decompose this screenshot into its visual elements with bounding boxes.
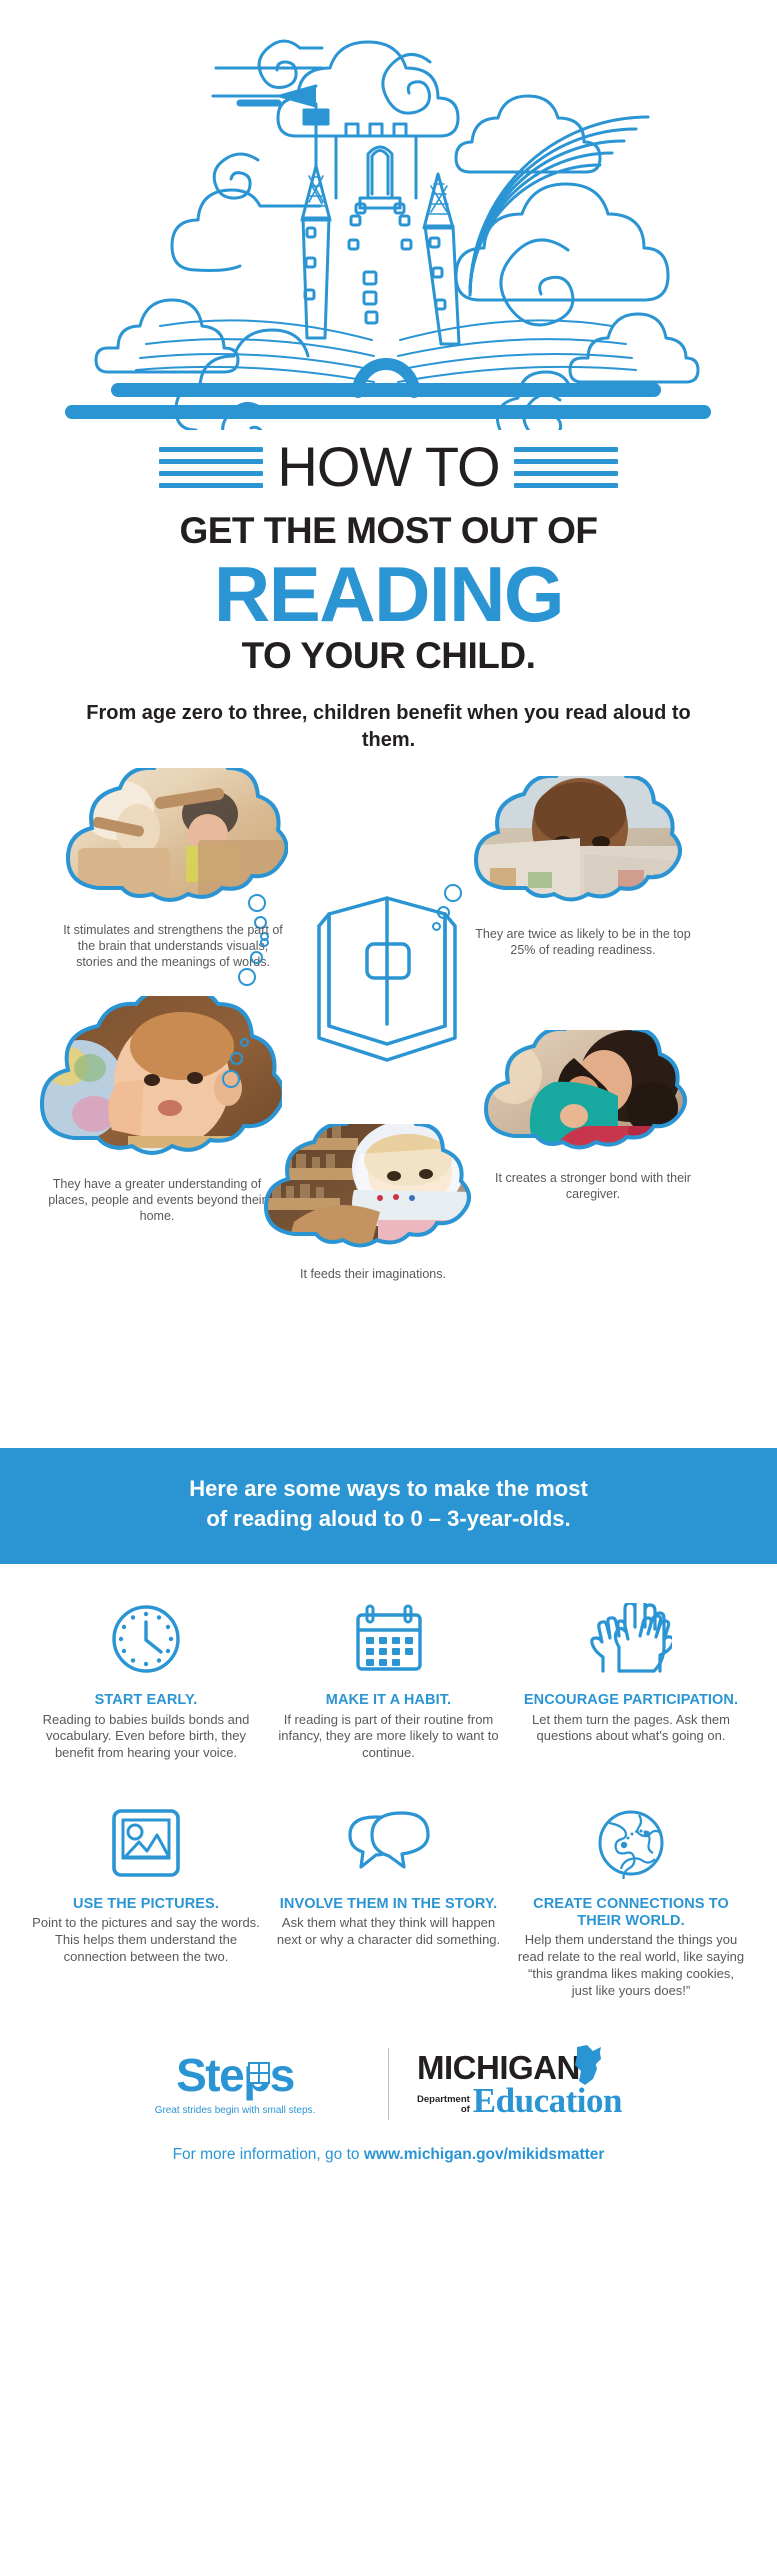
logo-row: Steps Great strides begin with small ste… bbox=[0, 2036, 777, 2132]
tip-start-early: START EARLY. Reading to babies builds bo… bbox=[28, 1600, 264, 1762]
title-line-reading: READING bbox=[0, 555, 777, 633]
howto-row: HOW TO bbox=[0, 436, 777, 498]
thought-cloud-photo bbox=[478, 1030, 708, 1160]
tip-involve-them-in-the-story: INVOLVE THEM IN THE STORY. Ask them what… bbox=[271, 1804, 507, 1949]
tips-section: START EARLY. Reading to babies builds bo… bbox=[0, 1564, 777, 2018]
thought-dots bbox=[238, 938, 269, 986]
tip-title: CREATE CONNECTIONS TO THEIR WORLD. bbox=[513, 1896, 749, 1930]
mde-department-label: Department of bbox=[417, 2095, 473, 2117]
thought-dots bbox=[222, 1038, 249, 1088]
tip-body: Reading to babies builds bonds and vocab… bbox=[28, 1712, 264, 1763]
logo-divider bbox=[388, 2048, 389, 2120]
banner-line-2: of reading aloud to 0 – 3-year-olds. bbox=[40, 1504, 737, 1534]
footer-note: For more information, go to www.michigan… bbox=[0, 2132, 777, 2176]
tip-title: USE THE PICTURES. bbox=[28, 1896, 264, 1913]
steps-tagline: Great strides begin with small steps. bbox=[110, 2105, 360, 2116]
benefit-bubble-stimulates-brain: It stimulates and strengthens the part o… bbox=[58, 768, 288, 912]
mde-of-word: of bbox=[417, 2105, 470, 2115]
michigan-mitten-icon bbox=[569, 2045, 603, 2085]
title-block: HOW TO GET THE MOST OUT OF READING TO YO… bbox=[0, 430, 777, 754]
benefit-caption: It creates a stronger bond with their ca… bbox=[478, 1170, 708, 1202]
tip-use-the-pictures: USE THE PICTURES. Point to the pictures … bbox=[28, 1804, 264, 1966]
benefit-caption: They are twice as likely to be in the to… bbox=[468, 926, 698, 958]
tip-title: MAKE IT A HABIT. bbox=[271, 1692, 507, 1709]
cta-banner: Here are some ways to make the most of r… bbox=[0, 1448, 777, 1565]
open-book-outline-icon bbox=[305, 892, 475, 1077]
calendar-icon bbox=[271, 1600, 507, 1678]
tip-make-it-a-habit: MAKE IT A HABIT. If reading is part of t… bbox=[271, 1600, 507, 1762]
decorative-lines-right bbox=[514, 447, 618, 488]
steps-wordmark: Steps bbox=[176, 2052, 294, 2098]
thought-cloud-photo bbox=[258, 1124, 488, 1258]
benefits-section: It stimulates and strengthens the part o… bbox=[0, 768, 777, 1448]
tip-body: Let them turn the pages. Ask them questi… bbox=[513, 1712, 749, 1746]
subtitle: From age zero to three, children benefit… bbox=[0, 700, 777, 754]
banner-line-1: Here are some ways to make the most bbox=[40, 1474, 737, 1504]
steps-window-mark bbox=[248, 2062, 270, 2084]
raised-hands-icon bbox=[513, 1600, 749, 1678]
tip-body: Ask them what they think will happen nex… bbox=[271, 1915, 507, 1949]
globe-icon bbox=[513, 1804, 749, 1882]
speech-bubbles-icon bbox=[271, 1804, 507, 1882]
hero-illustration bbox=[0, 0, 777, 430]
tip-body: Point to the pictures and say the words.… bbox=[28, 1915, 264, 1966]
clock-icon bbox=[28, 1600, 264, 1678]
title-line-howto: HOW TO bbox=[277, 439, 499, 495]
steps-logo: Steps Great strides begin with small ste… bbox=[110, 2052, 360, 2116]
title-line-to-your-child: TO YOUR CHILD. bbox=[0, 637, 777, 676]
tip-title: ENCOURAGE PARTICIPATION. bbox=[513, 1692, 749, 1709]
mde-education-word: Education bbox=[473, 2085, 622, 2117]
benefit-caption: They have a greater understanding of pla… bbox=[32, 1176, 282, 1224]
title-line-get-the-most: GET THE MOST OUT OF bbox=[0, 512, 777, 551]
steps-wordmark-text: Steps bbox=[176, 2049, 294, 2101]
michigan-department-of-education-logo: MICHIGAN Department of Education bbox=[417, 2051, 667, 2117]
benefit-caption: It feeds their imaginations. bbox=[258, 1266, 488, 1282]
thought-cloud-photo bbox=[58, 768, 288, 912]
decorative-lines-left bbox=[159, 447, 263, 488]
footer: Steps Great strides begin with small ste… bbox=[0, 2018, 777, 2176]
tip-encourage-participation: ENCOURAGE PARTICIPATION. Let them turn t… bbox=[513, 1600, 749, 1745]
mde-michigan-word: MICHIGAN bbox=[417, 2051, 667, 2084]
tips-row-1: START EARLY. Reading to babies builds bo… bbox=[28, 1600, 749, 1762]
benefit-bubble-reading-readiness: They are twice as likely to be in the to… bbox=[468, 776, 698, 912]
footer-url[interactable]: www.michigan.gov/mikidsmatter bbox=[364, 2146, 605, 2163]
thought-cloud-photo bbox=[468, 776, 698, 912]
footer-note-prefix: For more information, go to bbox=[173, 2146, 364, 2163]
benefit-bubble-feeds-imagination: It feeds their imaginations. bbox=[258, 1124, 488, 1258]
tips-row-2: USE THE PICTURES. Point to the pictures … bbox=[28, 1804, 749, 2000]
tip-title: INVOLVE THEM IN THE STORY. bbox=[271, 1896, 507, 1913]
tip-body: If reading is part of their routine from… bbox=[271, 1712, 507, 1763]
picture-frame-icon bbox=[28, 1804, 264, 1882]
tip-title: START EARLY. bbox=[28, 1692, 264, 1709]
tip-create-connections: CREATE CONNECTIONS TO THEIR WORLD. Help … bbox=[513, 1804, 749, 2000]
tip-body: Help them understand the things you read… bbox=[513, 1932, 749, 2000]
benefit-bubble-stronger-bond: It creates a stronger bond with their ca… bbox=[478, 1030, 708, 1160]
mde-bottom-row: Department of Education bbox=[417, 2085, 667, 2117]
